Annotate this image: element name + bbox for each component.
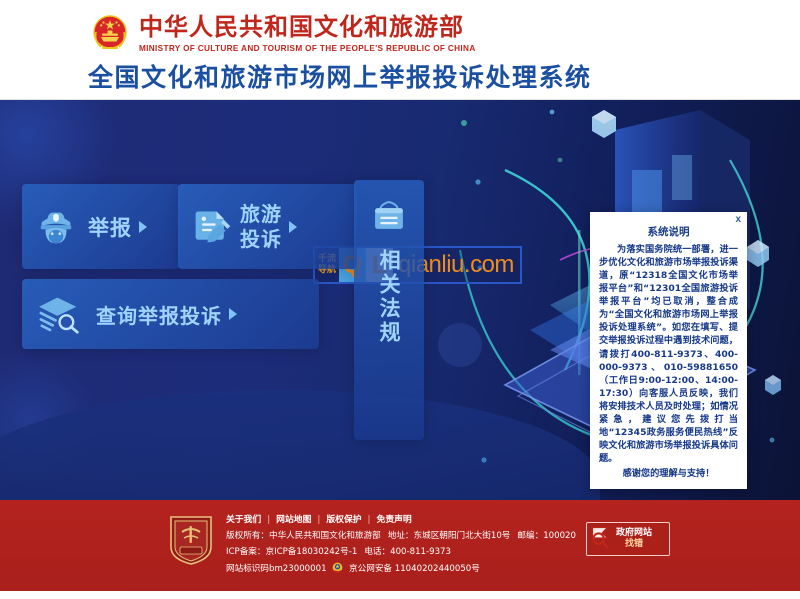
copyright-value: 中华人民共和国文化和旅游部 (269, 531, 381, 541)
gov-check-line2: 找错 (625, 539, 643, 550)
card-tourism-complaint-label: 旅游 投诉 (240, 202, 282, 251)
chevron-right-icon (139, 221, 147, 233)
footer-link-disclaimer[interactable]: 免责声明 (377, 514, 412, 526)
notice-title: 系统说明 (599, 224, 738, 239)
document-edit-icon (192, 206, 232, 248)
chevron-right-icon (289, 221, 297, 233)
card-regulations[interactable]: 相关法规 (354, 180, 424, 440)
ministry-shield-icon (168, 514, 214, 566)
footer-links: 关于我们 | 网站地图 | 版权保护 | 免责声明 (226, 514, 576, 526)
brand-text: 中华人民共和国文化和旅游部 MINISTRY OF CULTURE AND TO… (139, 15, 476, 52)
ministry-name-cn: 中华人民共和国文化和旅游部 (139, 15, 476, 40)
police-officer-icon (34, 205, 78, 249)
footer-icp-row: ICP备案：京ICP备18030242号-1电话：400-811-9373 (226, 546, 576, 558)
police-emblem-icon (332, 562, 343, 573)
footer-link-copyright-protection[interactable]: 版权保护 (326, 514, 361, 526)
footer-bottom-edge (0, 591, 800, 599)
footer-separator: | (267, 514, 270, 526)
notice-body: 为落实国务院统一部署，进一步优化文化和旅游市场举报投诉渠道，原“12318全国文… (599, 243, 738, 465)
phone-value: 400-811-9373 (390, 547, 451, 557)
gov-website-error-report-badge[interactable]: 政府网站 找错 (586, 522, 670, 556)
address-value: 东城区朝阳门北大街10号 (414, 531, 511, 541)
site-id-label: 网站标识码 (226, 564, 269, 574)
footer-copyright-row: 版权所有：中华人民共和国文化和旅游部地址：东城区朝阳门北大街10号邮编：1000… (226, 530, 576, 542)
site-footer: 关于我们 | 网站地图 | 版权保护 | 免责声明 版权所有：中华人民共和国文化… (0, 500, 800, 599)
card-tourism-complaint[interactable]: 旅游 投诉 (178, 184, 357, 269)
card-report-label: 举报 (88, 212, 132, 242)
layers-search-icon (38, 294, 82, 334)
hero-section: 千流 导航 Q L qianliu.com (0, 100, 800, 500)
footer-siteid-row: 网站标识码bm23000001 京公网安备 11040202440050号 (226, 562, 576, 575)
copyright-label: 版权所有： (226, 531, 269, 541)
page-title: 全国文化和旅游市场网上举报投诉处理系统 (88, 58, 592, 94)
chevron-right-icon (229, 308, 237, 320)
page-root: 中华人民共和国文化和旅游部 MINISTRY OF CULTURE AND TO… (0, 0, 800, 599)
gov-check-line1: 政府网站 (616, 528, 652, 539)
footer-separator: | (317, 514, 320, 526)
china-national-emblem-icon (88, 12, 132, 56)
card-tourism-line1: 旅游 (240, 202, 282, 226)
icp-value[interactable]: 京ICP备18030242号-1 (266, 547, 358, 557)
police-record[interactable]: 京公网安备 11040202440050号 (349, 564, 480, 574)
card-regulations-label: 相关法规 (376, 249, 402, 345)
site-header: 中华人民共和国文化和旅游部 MINISTRY OF CULTURE AND TO… (0, 0, 800, 100)
card-tourism-line2: 投诉 (240, 227, 282, 251)
icp-label: ICP备案： (226, 547, 266, 557)
notice-thanks: 感谢您的理解与支持！ (599, 467, 738, 480)
footer-link-about[interactable]: 关于我们 (226, 514, 261, 526)
footer-link-sitemap[interactable]: 网站地图 (276, 514, 311, 526)
footer-content: 关于我们 | 网站地图 | 版权保护 | 免责声明 版权所有：中华人民共和国文化… (168, 514, 576, 579)
postcode-label: 邮编： (517, 531, 543, 541)
postcode-value: 100020 (543, 531, 576, 541)
card-report[interactable]: 举报 (22, 184, 180, 269)
card-query-report-label: 查询举报投诉 (96, 300, 222, 329)
clipboard-sign-icon (369, 200, 409, 237)
close-icon[interactable]: x (735, 215, 741, 225)
footer-text-block: 关于我们 | 网站地图 | 版权保护 | 免责声明 版权所有：中华人民共和国文化… (226, 514, 576, 579)
address-label: 地址： (388, 531, 414, 541)
gov-check-text: 政府网站 找错 (616, 528, 652, 550)
magnifier-flag-icon (591, 525, 613, 553)
footer-separator: | (368, 514, 371, 526)
site-id-value: bm23000001 (269, 564, 327, 574)
card-query-report[interactable]: 查询举报投诉 (22, 279, 319, 349)
ministry-name-en: MINISTRY OF CULTURE AND TOURISM OF THE P… (139, 44, 476, 53)
brand-block: 中华人民共和国文化和旅游部 MINISTRY OF CULTURE AND TO… (88, 12, 476, 56)
phone-label: 电话： (364, 547, 390, 557)
system-notice-panel: x 系统说明 为落实国务院统一部署，进一步优化文化和旅游市场举报投诉渠道，原“1… (590, 212, 747, 489)
